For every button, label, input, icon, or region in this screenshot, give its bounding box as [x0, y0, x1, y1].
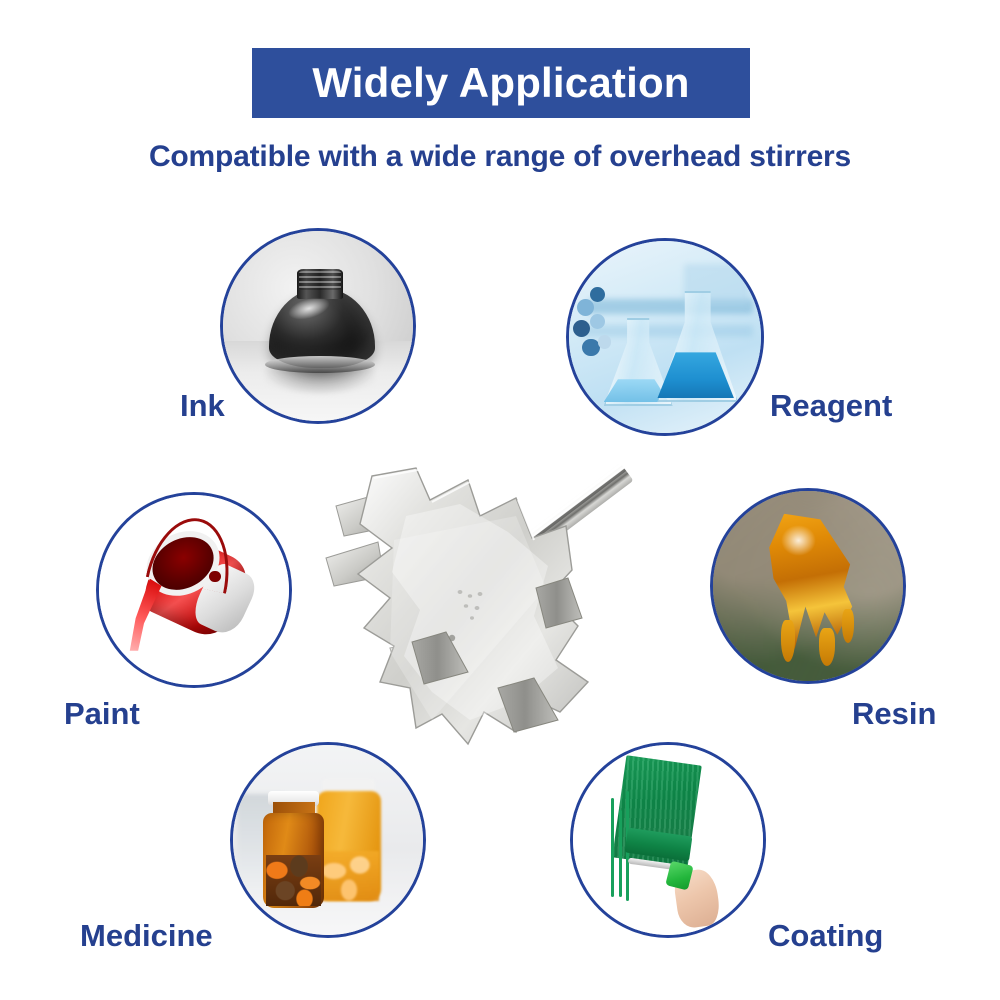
paint-roller-photo: [573, 745, 763, 935]
application-bubble-reagent: [566, 238, 764, 436]
page-subtitle: Compatible with a wide range of overhead…: [0, 140, 1000, 174]
application-label-ink: Ink: [180, 388, 225, 424]
stirring-blade-product-image: [320, 420, 680, 770]
application-label-resin: Resin: [852, 696, 936, 732]
tree-resin-photo: [713, 491, 903, 681]
application-bubble-resin: [710, 488, 906, 684]
stirring-blade-svg: [320, 420, 680, 770]
application-label-reagent: Reagent: [770, 388, 892, 424]
application-label-paint: Paint: [64, 696, 140, 732]
application-bubble-ink: [220, 228, 416, 424]
application-bubble-medicine: [230, 742, 426, 938]
application-label-medicine: Medicine: [80, 918, 213, 954]
application-label-coating: Coating: [768, 918, 883, 954]
lab-flasks-photo: [569, 241, 761, 433]
application-bubble-coating: [570, 742, 766, 938]
application-infographic-page: Widely Application Compatible with a wid…: [0, 0, 1000, 1000]
pill-bottles-photo: [233, 745, 423, 935]
paint-can-photo: [99, 495, 289, 685]
application-bubble-paint: [96, 492, 292, 688]
ink-bottle-photo: [223, 231, 413, 421]
page-title: Widely Application: [312, 62, 689, 104]
title-banner: Widely Application: [252, 48, 750, 118]
